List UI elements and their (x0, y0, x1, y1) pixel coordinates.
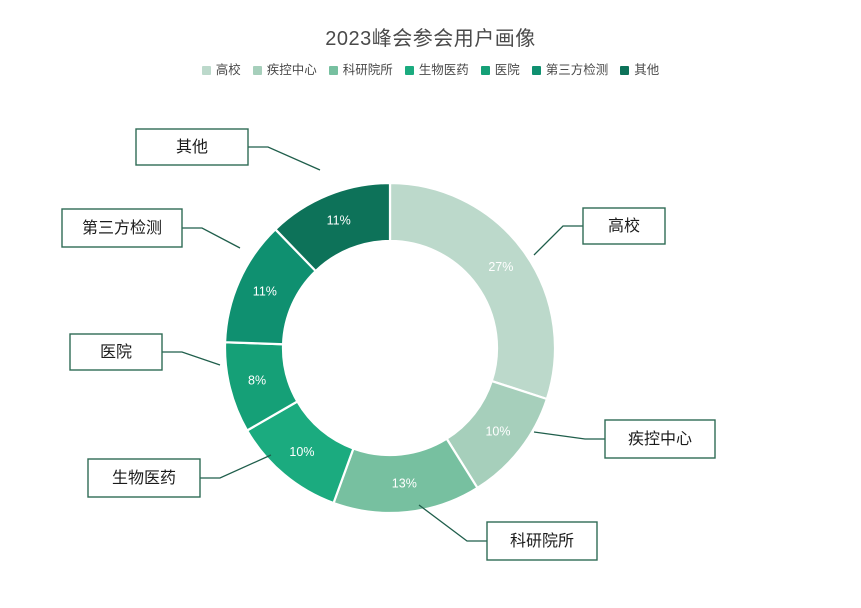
slice-value-label: 8% (248, 373, 266, 387)
legend-swatch-icon (329, 66, 338, 75)
donut-slice[interactable] (390, 183, 555, 399)
leader-line (182, 228, 240, 248)
slice-value-label: 13% (392, 477, 417, 491)
leader-line (419, 505, 487, 541)
legend-swatch-icon (620, 66, 629, 75)
callout-label: 疾控中心 (628, 430, 692, 448)
callout-label: 医院 (100, 343, 132, 361)
slice-value-label: 10% (485, 425, 510, 439)
slice-value-label: 27% (488, 260, 513, 274)
legend-swatch-icon (253, 66, 262, 75)
legend-item[interactable]: 疾控中心 (253, 62, 317, 78)
leader-line (534, 226, 583, 255)
legend-item-label: 其他 (634, 62, 659, 78)
leader-line (162, 352, 220, 365)
chart-title: 2023峰会参会用户画像 (0, 26, 861, 52)
legend-item[interactable]: 医院 (481, 62, 520, 78)
callout-label: 第三方检测 (82, 219, 162, 237)
slice-value-label: 10% (289, 445, 314, 459)
legend-item-label: 科研院所 (343, 62, 393, 78)
legend-swatch-icon (202, 66, 211, 75)
legend-item[interactable]: 科研院所 (329, 62, 393, 78)
chart-legend: 高校疾控中心科研院所生物医药医院第三方检测其他 (0, 62, 861, 78)
leader-line (534, 432, 605, 439)
donut-chart-figure: 2023峰会参会用户画像 高校疾控中心科研院所生物医药医院第三方检测其他 27%… (0, 0, 861, 608)
slice-value-label: 11% (327, 213, 351, 227)
legend-item-label: 高校 (216, 62, 241, 78)
slice-value-label: 11% (253, 285, 277, 299)
legend-item[interactable]: 第三方检测 (532, 62, 609, 78)
callout-label: 科研院所 (510, 532, 574, 550)
donut-slices: 27%10%13%10%8%11%11% (225, 183, 555, 513)
legend-item[interactable]: 生物医药 (405, 62, 469, 78)
callout-label: 生物医药 (112, 469, 176, 487)
legend-swatch-icon (532, 66, 541, 75)
legend-item-label: 疾控中心 (267, 62, 317, 78)
legend-swatch-icon (405, 66, 414, 75)
legend-item[interactable]: 其他 (620, 62, 659, 78)
legend-item-label: 第三方检测 (546, 62, 609, 78)
legend-swatch-icon (481, 66, 490, 75)
legend-item-label: 生物医药 (419, 62, 469, 78)
leader-line (200, 455, 271, 478)
legend-item-label: 医院 (495, 62, 520, 78)
legend-item[interactable]: 高校 (202, 62, 241, 78)
leader-line (248, 147, 320, 170)
callout-label: 其他 (176, 138, 208, 156)
donut-plot-area: 27%10%13%10%8%11%11% 高校疾控中心科研院所生物医药医院第三方… (0, 90, 861, 608)
callout-label: 高校 (608, 217, 640, 235)
